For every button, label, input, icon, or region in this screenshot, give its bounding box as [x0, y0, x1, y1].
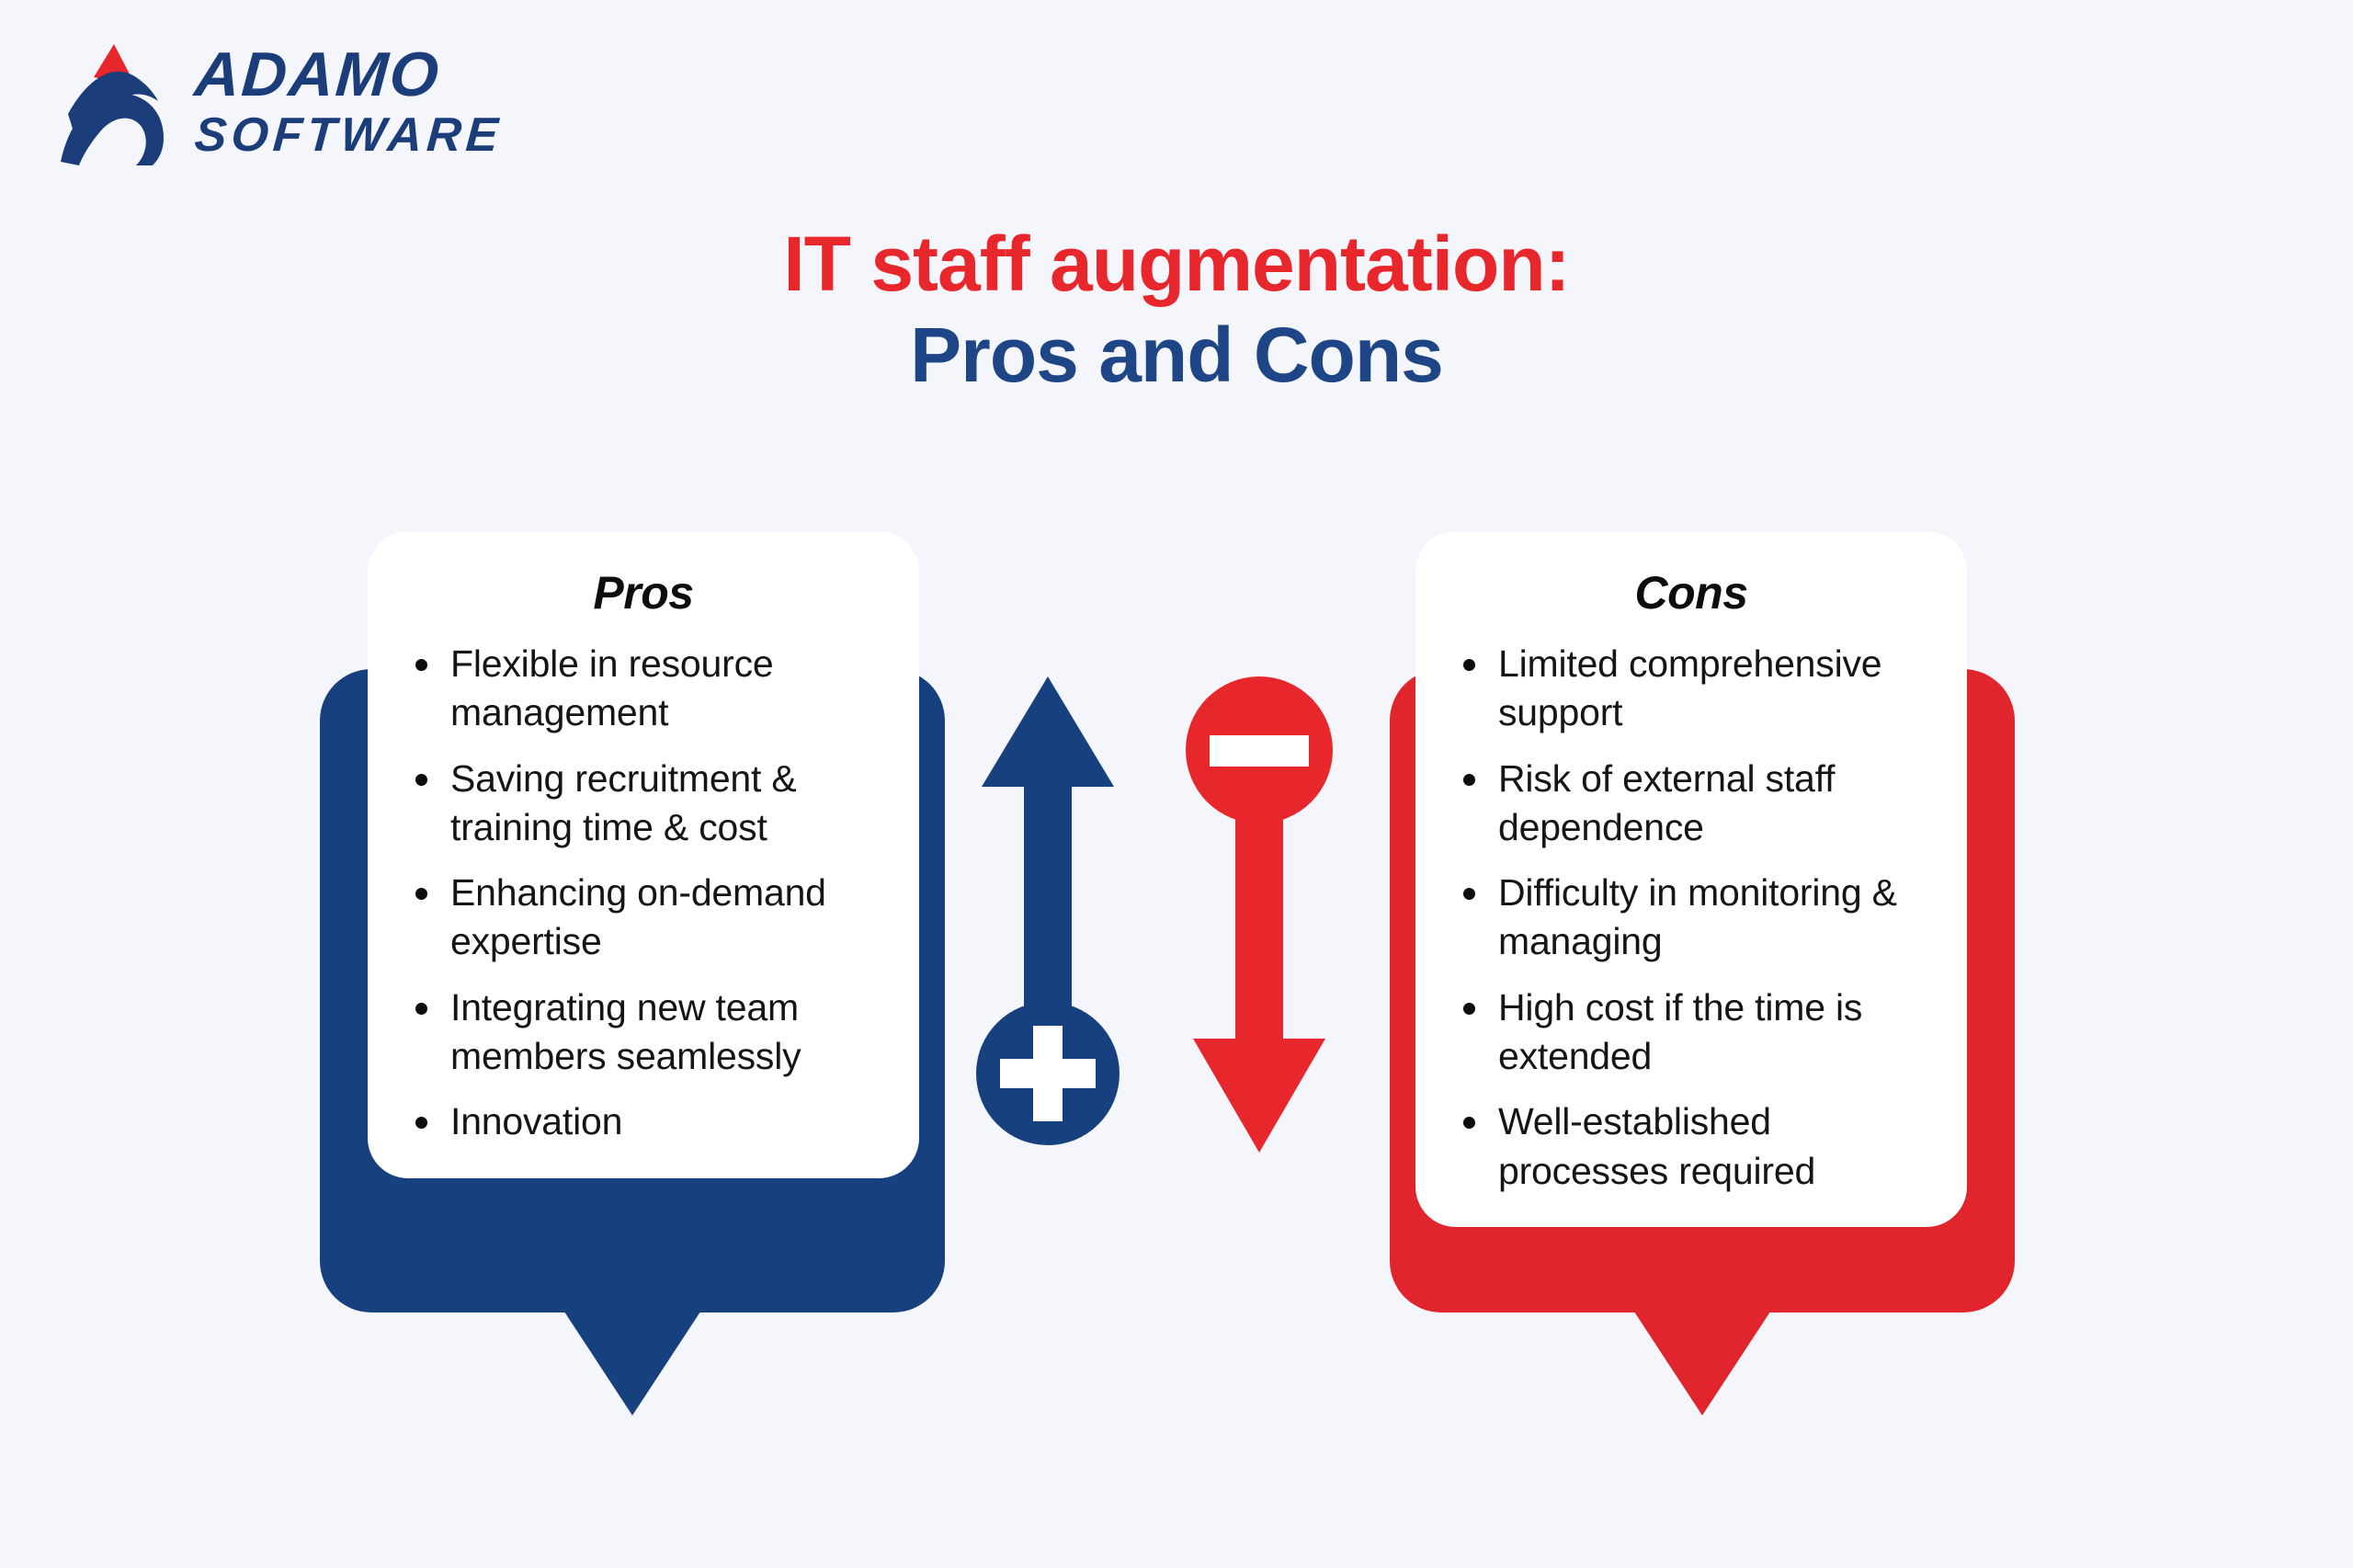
cons-heading: Cons	[1447, 566, 1936, 619]
center-icon-group	[974, 671, 1360, 1167]
list-item: Limited comprehensive support	[1447, 640, 1936, 738]
list-item: Difficulty in monitoring & managing	[1447, 869, 1936, 967]
list-item: High cost if the time is extended	[1447, 983, 1936, 1082]
up-arrow-plus-icon	[974, 671, 1121, 1167]
brand-name-line-1: ADAMO	[193, 43, 505, 106]
pros-heading: Pros	[399, 566, 888, 619]
list-item: Innovation	[399, 1097, 888, 1146]
list-item: Integrating new team members seamlessly	[399, 983, 888, 1082]
list-item: Well-established processes required	[1447, 1097, 1936, 1196]
pros-card: Pros Flexible in resource management Sav…	[368, 531, 919, 1178]
cons-card: Cons Limited comprehensive support Risk …	[1415, 531, 1967, 1227]
cons-bubble-tail	[1629, 1303, 1776, 1415]
pros-bubble-tail	[559, 1303, 706, 1415]
down-arrow-minus-icon	[1186, 671, 1333, 1167]
brand-name-line-2: SOFTWARE	[193, 111, 504, 159]
page-title: IT staff augmentation: Pros and Cons	[0, 219, 2353, 401]
cons-list: Limited comprehensive support Risk of ex…	[1447, 640, 1936, 1196]
pros-list: Flexible in resource management Saving r…	[399, 640, 888, 1147]
list-item: Enhancing on-demand expertise	[399, 869, 888, 967]
list-item: Flexible in resource management	[399, 640, 888, 738]
page-title-line-1: IT staff augmentation:	[0, 219, 2353, 310]
list-item: Saving recruitment & training time & cos…	[399, 755, 888, 853]
brand-logo: ADAMO SOFTWARE	[57, 37, 503, 165]
page-title-line-2: Pros and Cons	[0, 310, 2353, 401]
adamo-swoosh-mark-icon	[57, 37, 167, 165]
list-item: Risk of external staff dependence	[1447, 755, 1936, 853]
brand-wordmark: ADAMO SOFTWARE	[195, 43, 503, 159]
